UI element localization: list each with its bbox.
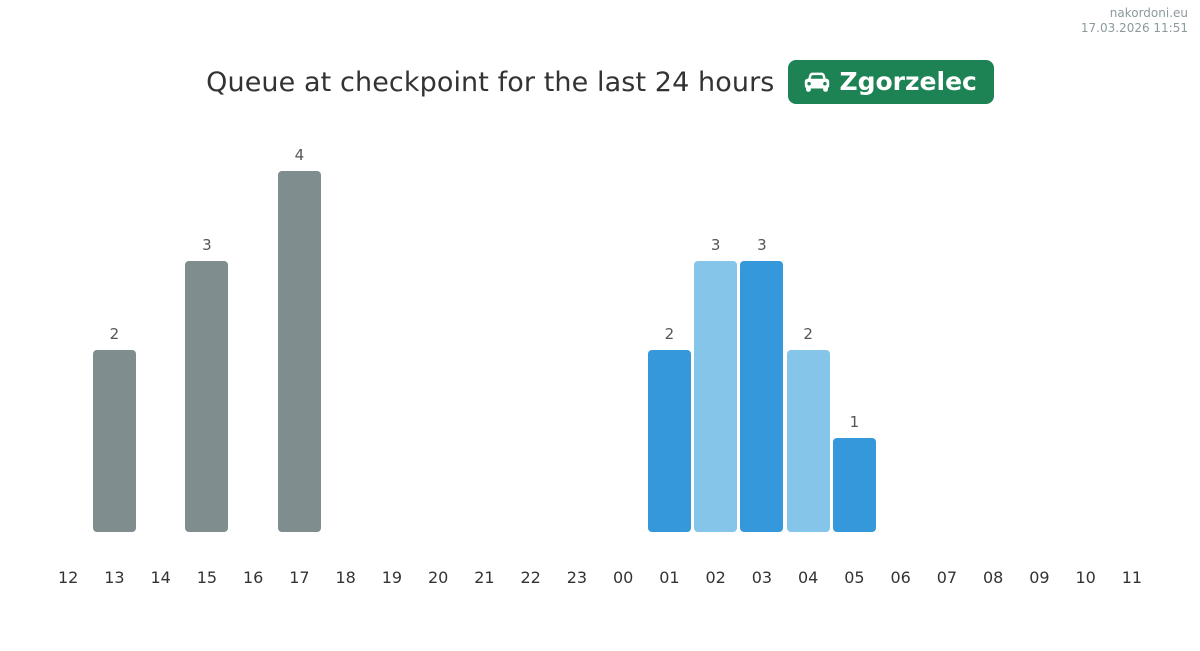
- car-icon: [802, 71, 832, 93]
- x-tick-09: 09: [1016, 570, 1062, 586]
- x-tick-16: 16: [230, 570, 276, 586]
- bar-slot-04[interactable]: 2: [785, 130, 831, 532]
- bar-value-label: 3: [739, 238, 785, 253]
- x-tick-18: 18: [323, 570, 369, 586]
- x-tick-10: 10: [1063, 570, 1109, 586]
- x-tick-04: 04: [785, 570, 831, 586]
- x-tick-21: 21: [461, 570, 507, 586]
- x-tick-07: 07: [924, 570, 970, 586]
- chart-plot-area: 23423321: [45, 130, 1155, 532]
- bar-series: 23423321: [45, 130, 1155, 532]
- bar[interactable]: [740, 261, 783, 532]
- x-tick-08: 08: [970, 570, 1016, 586]
- bar-slot-18[interactable]: [323, 130, 369, 532]
- x-tick-03: 03: [739, 570, 785, 586]
- x-tick-01: 01: [646, 570, 692, 586]
- x-tick-02: 02: [693, 570, 739, 586]
- bar-slot-11[interactable]: [1109, 130, 1155, 532]
- bar-slot-07[interactable]: [924, 130, 970, 532]
- bar[interactable]: [648, 350, 691, 532]
- bar-slot-20[interactable]: [415, 130, 461, 532]
- bar-slot-05[interactable]: 1: [831, 130, 877, 532]
- page-meta: nakordoni.eu 17.03.2026 11:51: [1081, 6, 1188, 36]
- checkpoint-badge[interactable]: Zgorzelec: [788, 60, 993, 104]
- page-title: Queue at checkpoint for the last 24 hour…: [206, 67, 774, 98]
- bar[interactable]: [278, 171, 321, 532]
- bar-slot-03[interactable]: 3: [739, 130, 785, 532]
- bar[interactable]: [185, 261, 228, 532]
- bar-slot-01[interactable]: 2: [646, 130, 692, 532]
- x-tick-15: 15: [184, 570, 230, 586]
- bar-value-label: 3: [184, 238, 230, 253]
- bar-slot-21[interactable]: [461, 130, 507, 532]
- bar-slot-19[interactable]: [369, 130, 415, 532]
- bar-value-label: 4: [276, 148, 322, 163]
- badge-label: Zgorzelec: [839, 69, 976, 94]
- bar[interactable]: [833, 438, 876, 532]
- bar-slot-17[interactable]: 4: [276, 130, 322, 532]
- x-tick-06: 06: [878, 570, 924, 586]
- bar[interactable]: [694, 261, 737, 532]
- bar-slot-13[interactable]: 2: [91, 130, 137, 532]
- x-tick-20: 20: [415, 570, 461, 586]
- bar-slot-02[interactable]: 3: [693, 130, 739, 532]
- x-tick-00: 00: [600, 570, 646, 586]
- bar-slot-10[interactable]: [1063, 130, 1109, 532]
- bar-value-label: 2: [646, 327, 692, 342]
- x-tick-22: 22: [508, 570, 554, 586]
- bar-slot-00[interactable]: [600, 130, 646, 532]
- bar-value-label: 2: [785, 327, 831, 342]
- bar-slot-16[interactable]: [230, 130, 276, 532]
- bar-slot-22[interactable]: [508, 130, 554, 532]
- bar-slot-06[interactable]: [878, 130, 924, 532]
- bar-value-label: 2: [91, 327, 137, 342]
- x-tick-14: 14: [138, 570, 184, 586]
- x-tick-11: 11: [1109, 570, 1155, 586]
- x-tick-19: 19: [369, 570, 415, 586]
- bar-slot-23[interactable]: [554, 130, 600, 532]
- timestamp: 17.03.2026 11:51: [1081, 21, 1188, 36]
- x-tick-13: 13: [91, 570, 137, 586]
- bar-slot-14[interactable]: [138, 130, 184, 532]
- x-tick-05: 05: [831, 570, 877, 586]
- bar-slot-09[interactable]: [1016, 130, 1062, 532]
- bar-slot-08[interactable]: [970, 130, 1016, 532]
- x-tick-12: 12: [45, 570, 91, 586]
- bar[interactable]: [787, 350, 830, 532]
- x-tick-17: 17: [276, 570, 322, 586]
- x-axis-ticks: 1213141516171819202122230001020304050607…: [45, 570, 1155, 586]
- bar-value-label: 3: [693, 238, 739, 253]
- bar[interactable]: [93, 350, 136, 532]
- site-name: nakordoni.eu: [1081, 6, 1188, 21]
- bar-value-label: 1: [831, 415, 877, 430]
- bar-slot-12[interactable]: [45, 130, 91, 532]
- x-tick-23: 23: [554, 570, 600, 586]
- bar-slot-15[interactable]: 3: [184, 130, 230, 532]
- chart-header: Queue at checkpoint for the last 24 hour…: [0, 60, 1200, 104]
